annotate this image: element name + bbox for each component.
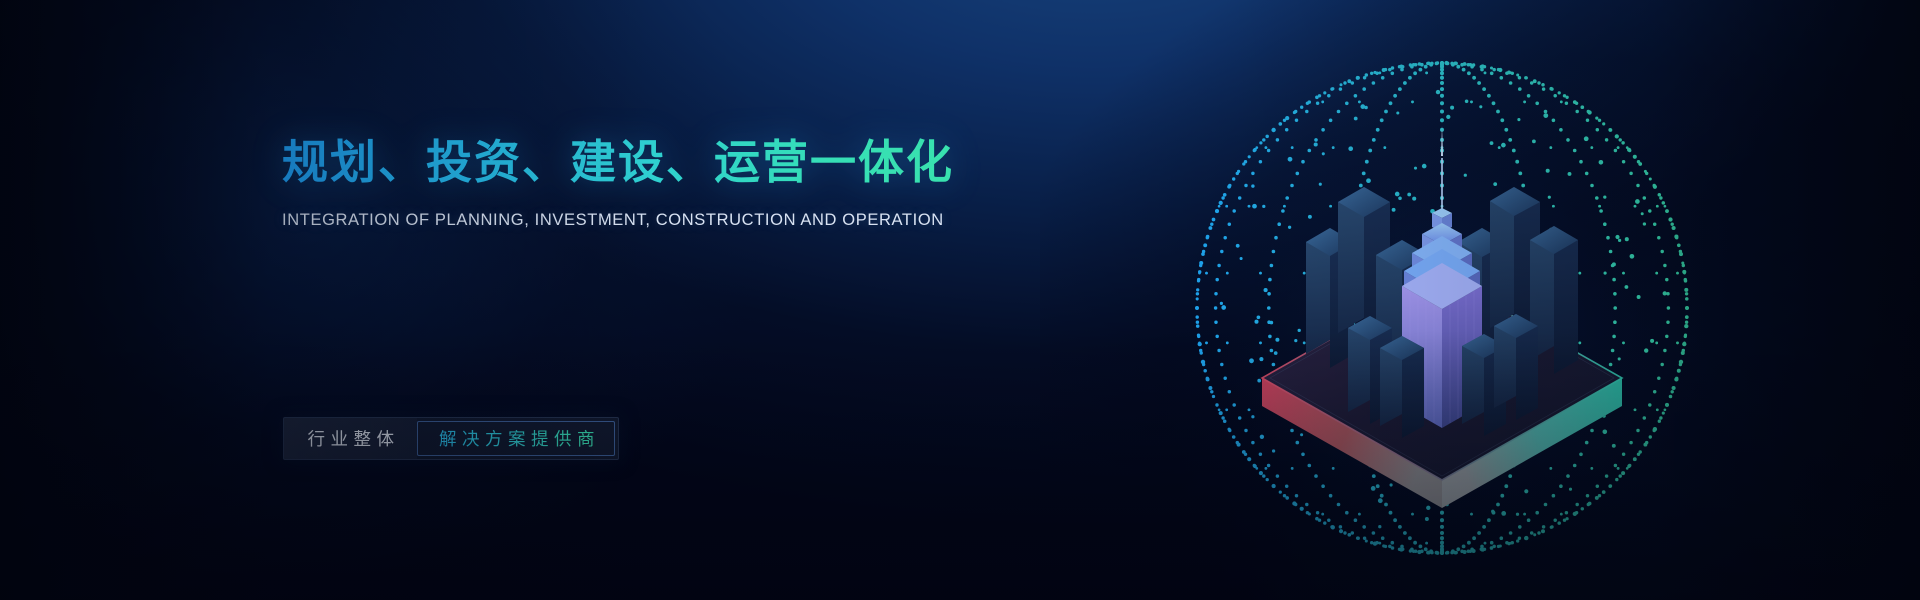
background-vignette	[0, 0, 1920, 600]
hero-banner: 规划、投资、建设、运营一体化 INTEGRATION OF PLANNING, …	[0, 0, 1920, 600]
